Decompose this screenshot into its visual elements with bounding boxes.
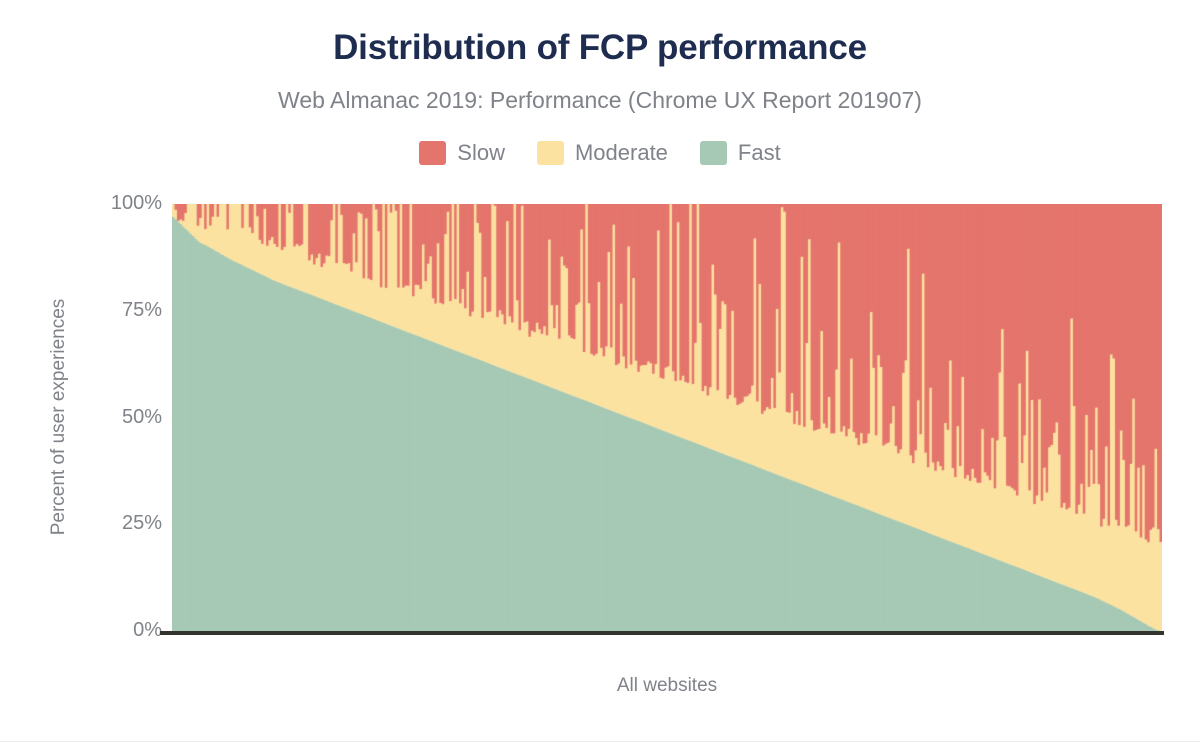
y-axis-tick-label: 0% bbox=[42, 619, 162, 642]
legend-swatch-slow bbox=[419, 141, 446, 165]
chart-container: Distribution of FCP performance Web Alma… bbox=[0, 0, 1200, 742]
plot-area bbox=[172, 204, 1162, 631]
y-axis-tick-label: 75% bbox=[42, 299, 162, 322]
legend-item-fast[interactable]: Fast bbox=[700, 140, 781, 166]
chart-title: Distribution of FCP performance bbox=[0, 28, 1200, 68]
legend-swatch-fast bbox=[700, 141, 727, 165]
legend-item-slow[interactable]: Slow bbox=[419, 140, 505, 166]
x-axis-title: All websites bbox=[172, 675, 1162, 697]
legend-swatch-moderate bbox=[537, 141, 564, 165]
legend-item-moderate[interactable]: Moderate bbox=[537, 140, 668, 166]
y-axis-tick-label: 100% bbox=[42, 192, 162, 215]
stacked-bar-canvas bbox=[172, 204, 1162, 631]
chart-subtitle: Web Almanac 2019: Performance (Chrome UX… bbox=[0, 87, 1200, 114]
y-axis-tick-label: 50% bbox=[42, 406, 162, 429]
y-axis-tick-label: 25% bbox=[42, 512, 162, 535]
legend-label-slow: Slow bbox=[457, 140, 505, 166]
legend-label-moderate: Moderate bbox=[575, 140, 668, 166]
chart-legend: Slow Moderate Fast bbox=[0, 140, 1200, 166]
legend-label-fast: Fast bbox=[738, 140, 781, 166]
x-axis-line bbox=[160, 631, 1164, 635]
